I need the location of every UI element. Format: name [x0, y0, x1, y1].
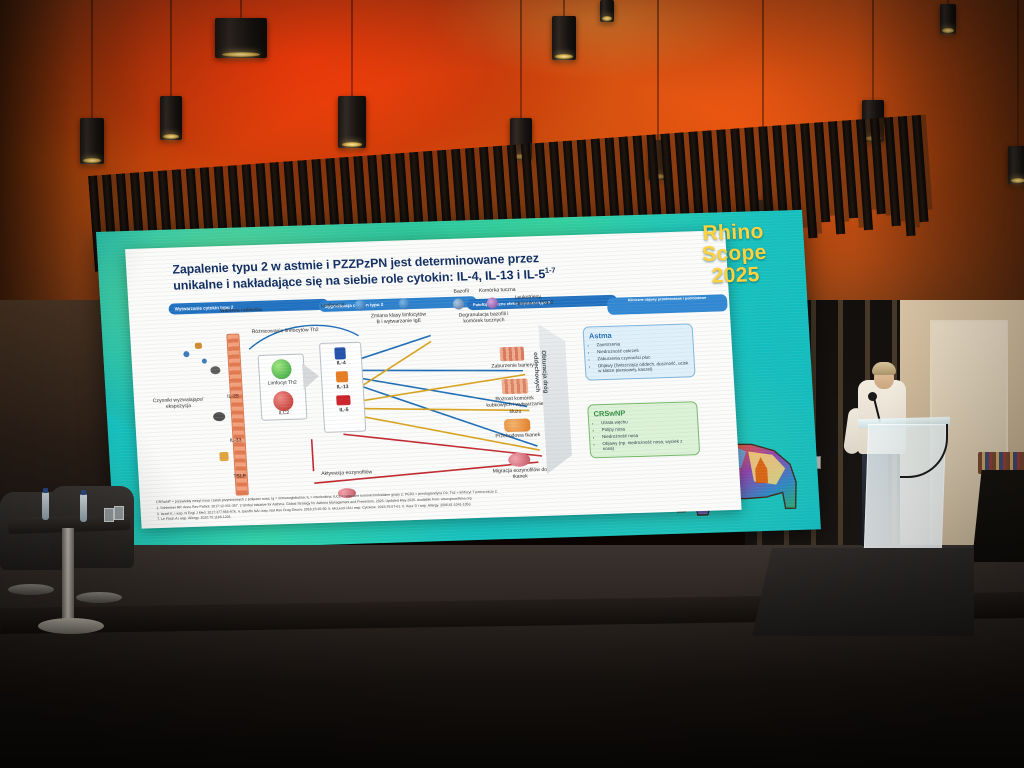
flow-arrow-icon [302, 363, 320, 389]
label-ilc2-cell: ILC2 [264, 409, 304, 417]
rhinoscope-logo: Rhino Scope 2025 [669, 220, 801, 288]
led-video-wall: Rhino Scope 2025 [96, 210, 821, 552]
list-item: Objawy (np. niedrożność nosa, wyciek z n… [602, 438, 694, 453]
lamp-housing [1008, 146, 1024, 184]
lamp-bulb-icon [602, 16, 612, 21]
table-base [38, 618, 104, 634]
outcome-crswnp-title: CRSwNP [593, 406, 692, 418]
label-il5: IL-5 [324, 407, 364, 415]
label-tslp: TSLP [225, 473, 255, 480]
lamp-cord [1018, 0, 1019, 146]
outcome-asthma-list: Zaostrzenia Niedrożność oskrzeli Zaburze… [589, 339, 689, 374]
presentation-slide: Zapalenie typu 2 w astmie i PZZPzPN jest… [125, 230, 742, 528]
il4-icon [334, 347, 346, 359]
lamp-bulb-icon [163, 134, 179, 139]
trigger-particle-2 [195, 343, 202, 349]
label-th2-cell: Limfocyt Th2 [262, 380, 302, 388]
label-il25: IL-25 [220, 393, 246, 400]
lamp-cord [241, 0, 242, 18]
outcome-crswnp-list: Utrata węchu Polipy nosa Niedrożność nos… [594, 417, 694, 452]
lamp-bulb-icon [222, 52, 259, 57]
lamp-housing [160, 96, 182, 140]
bottle-cap [43, 488, 48, 493]
label-mediators: Leukotrieny, histamina, PGD2 [514, 293, 565, 307]
tissue-remodeling-icon [504, 418, 531, 432]
label-b-cell: Limfocyt B [315, 302, 351, 309]
lamp-housing [940, 4, 956, 34]
il5-icon [336, 395, 351, 405]
lamp-bulb-icon [342, 142, 362, 147]
lamp-cord [521, 0, 522, 118]
lamp-cord [564, 0, 565, 16]
lamp-housing [338, 96, 366, 148]
trigger-particle-1 [183, 351, 189, 357]
water-bottle [42, 492, 49, 520]
lamp-bulb-icon [555, 54, 572, 59]
label-il33: IL-33 [222, 437, 248, 444]
slide-title: Zapalenie typu 2 w astmie i PZZPzPN jest… [172, 245, 694, 294]
lamp-housing [600, 0, 614, 22]
goblet-cell-icon [501, 378, 528, 394]
label-degranulation: Degranulacja bazofili i komórek tucznych [455, 311, 512, 325]
th2-ilc2-cell-box: Limfocyt Th2 ILC2 [258, 353, 308, 420]
il13-icon [336, 371, 349, 382]
ilc2-cell-icon [273, 391, 294, 412]
slide-title-refs: 1-7 [545, 266, 556, 275]
stage-monitor-wedge [752, 548, 974, 636]
barrier-disruption-icon [500, 347, 525, 362]
table-stem [62, 528, 74, 624]
lamp-housing [552, 16, 576, 60]
list-item: Objawy (świszczący oddech, duszność, uci… [598, 360, 690, 375]
armchair-base [8, 584, 54, 595]
lamp-cord [171, 0, 172, 96]
armchair-base [76, 592, 122, 603]
lamp-cord [352, 0, 353, 96]
lamp-cord [658, 0, 659, 140]
outcome-asthma-title: Astma [589, 328, 688, 340]
drinking-glass [104, 508, 114, 522]
label-basophil: Bazofil [448, 288, 474, 295]
lamp-bulb-icon [942, 28, 954, 33]
label-eos-migration: Migracja eozynofilów do tkanek [491, 467, 550, 482]
brand-line-3: 2025 [671, 263, 800, 288]
lamp-housing [80, 118, 104, 164]
lamp-cord [873, 0, 874, 100]
lamp-bulb-icon [83, 158, 100, 163]
bottle-cap [81, 490, 86, 495]
presenter-hair [872, 362, 896, 375]
alarmin-icon-tslp [219, 452, 229, 461]
label-il13: IL-13 [322, 384, 362, 392]
trigger-particle-3 [202, 359, 207, 364]
label-triggers: Czynniki wyzwalające/ ekspozycja [140, 396, 217, 411]
label-class-switch: Zmiana klasy limfocytów B i wytwarzanie … [369, 312, 428, 327]
th2-cell-icon [271, 359, 292, 380]
conference-hall-photo: Rhino Scope 2025 [0, 0, 1024, 768]
outcome-box-asthma: Astma Zaostrzenia Niedrożność oskrzeli Z… [582, 323, 695, 381]
ceiling-light-glow [430, 0, 760, 80]
water-bottle [80, 494, 87, 522]
label-il4: IL-4 [321, 360, 361, 368]
lamp-housing [215, 18, 267, 58]
drinking-glass [114, 506, 124, 520]
label-mast-cell: Komórka tuczna [476, 287, 518, 295]
cytokine-box: IL-4 IL-13 IL-5 [319, 342, 366, 433]
outcome-box-crswnp: CRSwNP Utrata węchu Polipy nosa Niedrożn… [587, 401, 700, 459]
lamp-cord [92, 0, 93, 118]
lamp-bulb-icon [1011, 178, 1024, 183]
